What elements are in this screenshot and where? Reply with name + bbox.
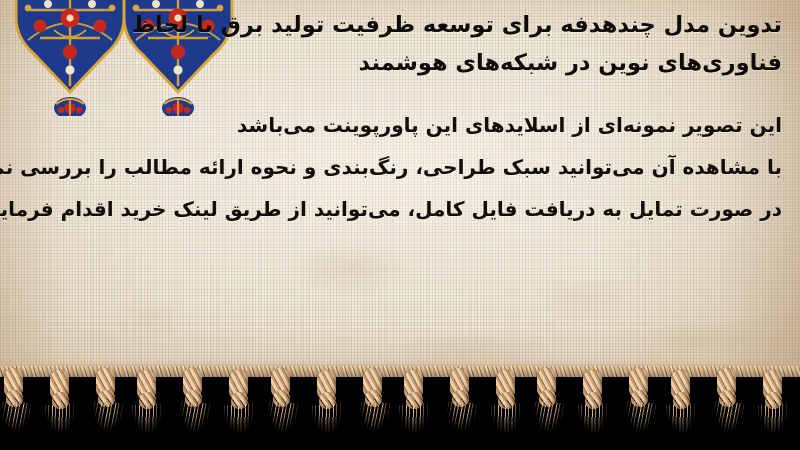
- presentation-slide: تدوین مدل چندهدفه برای توسعه ظرفیت تولید…: [0, 0, 800, 450]
- tassel-threads: [311, 403, 345, 449]
- tassel: [223, 370, 257, 450]
- persian-paisley-medallion-icon: [10, 0, 130, 120]
- tassel: [177, 368, 211, 448]
- tassel: [757, 370, 791, 450]
- tassel: [90, 368, 124, 448]
- slide-title: تدوین مدل چندهدفه برای توسعه ظرفیت تولید…: [228, 6, 782, 82]
- tassel-fringe-band: [0, 366, 800, 450]
- body-line-1: این تصویر نمونه‌ای از اسلایدهای این پاور…: [40, 104, 782, 146]
- tassel-threads: [265, 401, 298, 447]
- tassel-threads: [0, 401, 31, 447]
- tassel: [265, 368, 299, 448]
- tassel: [490, 370, 524, 450]
- tassel-threads: [44, 403, 78, 449]
- tassel-threads: [757, 403, 791, 449]
- tassel: [444, 368, 478, 448]
- body-line-3: در صورت تمایل به دریافت فایل کامل، می‌تو…: [40, 188, 782, 230]
- tassel-threads: [665, 403, 699, 449]
- title-line-2: فناوری‌های نوین در شبکه‌های هوشمند: [228, 44, 782, 82]
- tassel: [577, 370, 611, 450]
- tassel: [311, 370, 345, 450]
- tassel-threads: [357, 401, 390, 447]
- slide-body: این تصویر نمونه‌ای از اسلایدهای این پاور…: [40, 104, 782, 230]
- tassel: [0, 368, 32, 448]
- tassel-threads: [131, 403, 165, 449]
- tassel-threads: [223, 403, 257, 449]
- tassel-threads: [444, 401, 477, 447]
- tassel-threads: [711, 401, 744, 447]
- tassel: [531, 368, 565, 448]
- tassel-threads: [490, 403, 524, 449]
- tassel-threads: [532, 401, 565, 447]
- tassel: [44, 370, 78, 450]
- tassel: [357, 368, 391, 448]
- tassel: [711, 368, 745, 448]
- tassel: [398, 370, 432, 450]
- tassel-threads: [577, 403, 611, 449]
- tassel-threads: [624, 401, 657, 447]
- tassel: [131, 370, 165, 450]
- tassel-threads: [178, 401, 211, 447]
- tassel-threads: [398, 403, 432, 449]
- body-line-2: با مشاهده آن می‌توانید سبک طراحی، رنگ‌بن…: [40, 146, 782, 188]
- tassel: [665, 370, 699, 450]
- tassel: [623, 368, 657, 448]
- tassel-threads: [90, 401, 123, 447]
- title-line-1: تدوین مدل چندهدفه برای توسعه ظرفیت تولید…: [228, 6, 782, 44]
